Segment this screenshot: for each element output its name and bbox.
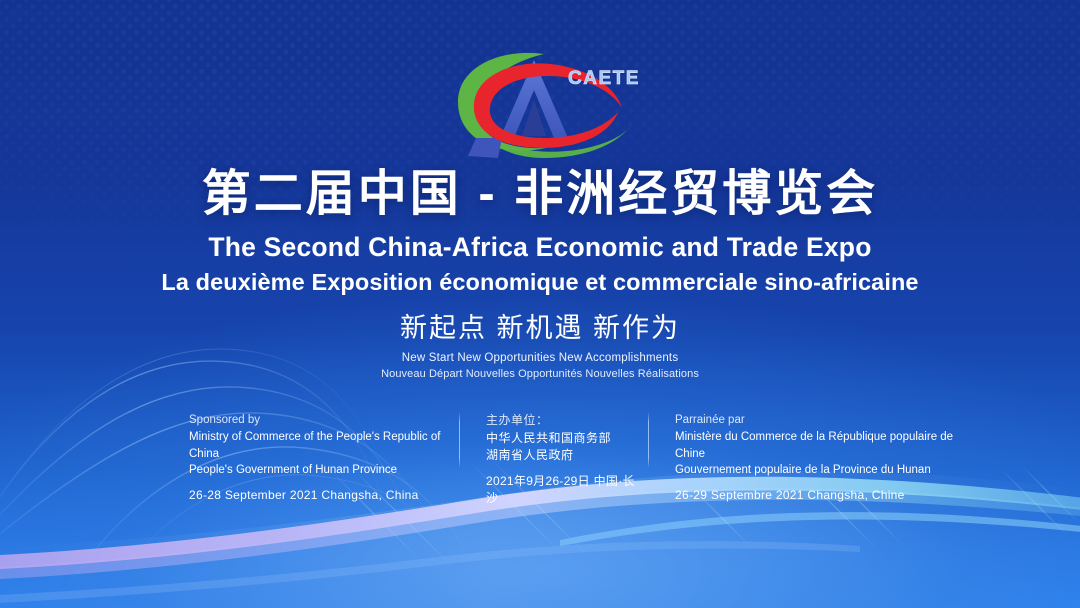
logo-wordmark: CAETE [568, 68, 640, 89]
event-date-en: 26-28 September 2021 Changsha, China [189, 487, 447, 505]
slogan-chinese: 新起点 新机遇 新作为 [0, 306, 1080, 345]
event-date-cn: 2021年9月26-29日 中国·长沙 [486, 473, 636, 508]
title-english: The Second China-Africa Economic and Tra… [0, 232, 1080, 263]
title-french: La deuxième Exposition économique et com… [0, 269, 1080, 296]
title-chinese: 第二届中国 - 非洲经贸博览会 [0, 166, 1080, 223]
slogan-block: 新起点 新机遇 新作为 New Start New Opportunities … [0, 306, 1080, 380]
sponsor-org1-cn: 中华人民共和国商务部 [486, 430, 636, 448]
sponsor-org2-fr: Gouvernement populaire de la Province du… [675, 462, 965, 479]
sponsor-org1-en: Ministry of Commerce of the People's Rep… [189, 429, 447, 463]
footer-column-french: Parrainée par Ministère du Commerce de l… [675, 412, 965, 505]
footer-divider-1 [459, 412, 460, 468]
logo-blue-shape [468, 138, 502, 158]
slogan-english: New Start New Opportunities New Accompli… [0, 352, 1080, 364]
footer-column-chinese: 主办单位： 中华人民共和国商务部 湖南省人民政府 2021年9月26-29日 中… [486, 412, 636, 508]
footer-info: Sponsored by Ministry of Commerce of the… [189, 412, 965, 508]
slogan-french: Nouveau Départ Nouvelles Opportunités No… [0, 368, 1080, 380]
sponsor-lead-en: Sponsored by [189, 412, 447, 429]
sponsor-org2-cn: 湖南省人民政府 [486, 447, 636, 465]
sponsor-lead-cn: 主办单位： [486, 412, 636, 430]
sponsor-org2-en: People's Government of Hunan Province [189, 462, 447, 479]
sponsor-lead-fr: Parrainée par [675, 412, 965, 429]
caete-logo-icon: CAETE [440, 42, 640, 160]
sponsor-org1-fr: Ministère du Commerce de la République p… [675, 429, 965, 463]
title-block: 第二届中国 - 非洲经贸博览会 The Second China-Africa … [0, 166, 1080, 296]
footer-divider-2 [648, 412, 649, 468]
event-date-fr: 26-29 Septembre 2021 Changsha, Chine [675, 487, 965, 505]
logo: CAETE [440, 42, 640, 160]
footer-column-english: Sponsored by Ministry of Commerce of the… [189, 412, 447, 505]
expo-poster: CAETE 第二届中国 - 非洲经贸博览会 The Second China-A… [0, 0, 1080, 608]
